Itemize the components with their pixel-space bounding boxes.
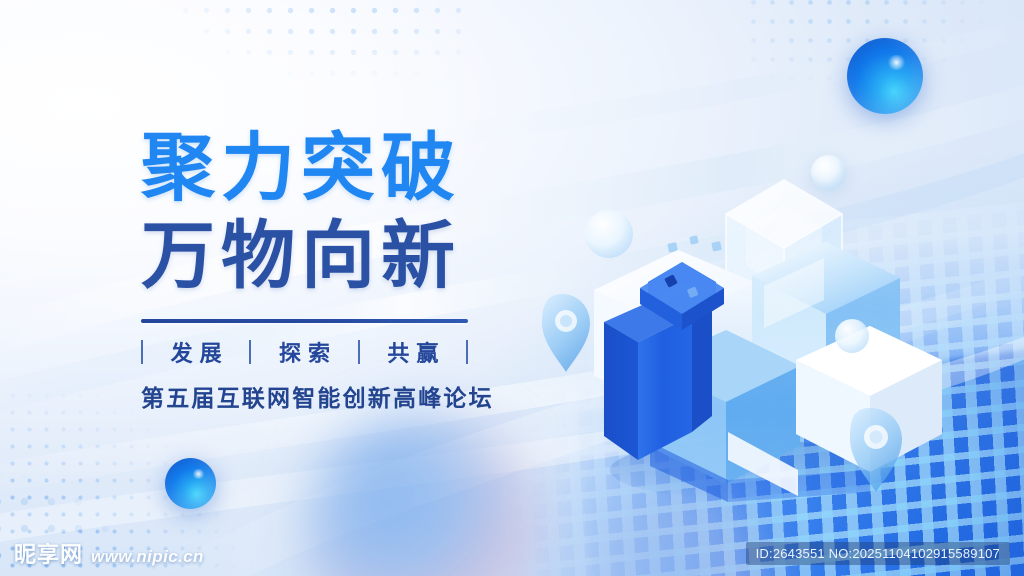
keyword-separator-icon (358, 340, 360, 364)
keyword-separator-icon (466, 340, 468, 364)
headline-divider-rule (141, 319, 468, 323)
keyword-row: 发展 探索 共赢 (141, 336, 468, 368)
headline-line-1: 聚力突破 (141, 124, 611, 212)
keyword-exploration: 探索 (272, 336, 337, 368)
map-pin-left (542, 294, 590, 372)
keyword-winwin: 共赢 (380, 336, 445, 368)
keyword-separator-icon (249, 340, 251, 364)
headline-line-2: 万物向新 (141, 212, 611, 300)
keyword-separator-icon (141, 340, 143, 364)
keyword-development: 发展 (164, 336, 229, 368)
sphere-blue-bottom-left (165, 458, 216, 509)
glass-sphere-right (835, 319, 869, 353)
sphere-blue-top-right (847, 38, 923, 114)
headline-block: 聚力突破 万物向新 (141, 124, 611, 300)
event-tagline: 第五届互联网智能创新高峰论坛 (141, 379, 471, 413)
poster-canvas: 聚力突破 万物向新 发展 探索 共赢 第五届互联网智能创新高峰论坛 昵享网 ww… (0, 0, 1024, 576)
